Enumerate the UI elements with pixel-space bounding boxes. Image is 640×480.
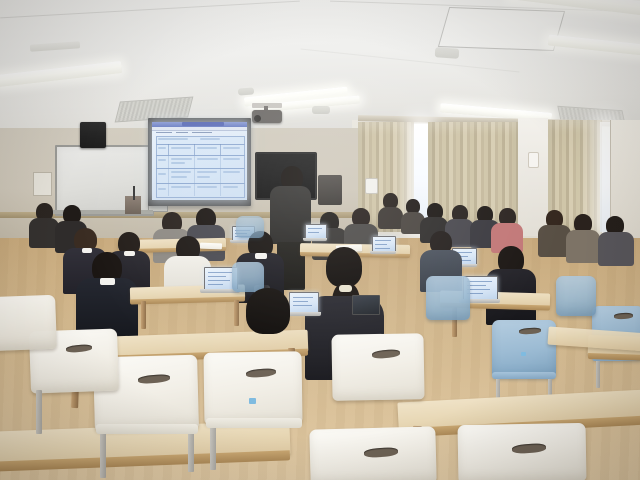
slide-cell-text bbox=[223, 158, 240, 160]
ceiling-vent-small bbox=[312, 106, 330, 114]
slide-cell-text bbox=[171, 162, 185, 164]
shirt-collar bbox=[100, 278, 115, 285]
ceiling-access-panel bbox=[438, 7, 565, 51]
wall-clock bbox=[365, 178, 378, 194]
chair-blue-far4[interactable] bbox=[236, 216, 264, 238]
slide-cell-text bbox=[158, 159, 166, 161]
av-equipment-rack bbox=[318, 175, 342, 205]
laptop-base[interactable] bbox=[285, 312, 321, 316]
table-leg bbox=[141, 301, 146, 329]
slide-cell-text bbox=[171, 158, 192, 160]
slide-cell-text bbox=[171, 147, 191, 149]
shirt-collar bbox=[255, 253, 267, 259]
laptop-screen[interactable] bbox=[289, 292, 319, 314]
slide-cell-text bbox=[223, 147, 240, 149]
slide-cell-text bbox=[197, 171, 217, 173]
projector-lens bbox=[254, 115, 261, 122]
person-head bbox=[246, 288, 290, 334]
chair-blue-far[interactable] bbox=[426, 276, 470, 320]
laptop-screen-dark[interactable] bbox=[352, 295, 380, 315]
slide-header-tab bbox=[182, 122, 224, 126]
slide-cell-text bbox=[197, 176, 210, 178]
laptop-base[interactable] bbox=[370, 251, 396, 254]
chair-leg bbox=[210, 422, 216, 470]
classroom-photo bbox=[0, 0, 640, 480]
chair-leg bbox=[100, 428, 106, 478]
handout-paper bbox=[200, 243, 222, 250]
slide-cell-text bbox=[158, 147, 166, 149]
person-head-ponytail bbox=[326, 247, 362, 287]
slide-text-line bbox=[176, 132, 188, 133]
wall-pillar bbox=[518, 118, 548, 236]
slide-cell-text bbox=[197, 147, 217, 149]
slide-cell-text bbox=[158, 173, 166, 175]
slide-cell-text bbox=[223, 171, 240, 173]
chair-sticker bbox=[249, 398, 256, 404]
slide-menu-bar bbox=[152, 127, 247, 131]
microphone-stand bbox=[133, 186, 135, 200]
person-body bbox=[378, 207, 403, 229]
shirt-collar bbox=[124, 251, 135, 256]
chair-leg bbox=[36, 390, 42, 434]
chair-front-center[interactable] bbox=[204, 351, 303, 424]
slide-cell-text bbox=[158, 138, 188, 140]
slide-cell-text bbox=[171, 171, 191, 173]
pillar-wall-fixture bbox=[528, 152, 539, 168]
wall-notice-sheet bbox=[33, 172, 52, 196]
slide-cell-text bbox=[200, 138, 220, 140]
chair-seat bbox=[492, 372, 556, 379]
chair-seat bbox=[206, 418, 302, 428]
slide-text-line bbox=[192, 132, 212, 133]
table-leg bbox=[234, 300, 239, 326]
ceiling-vent-right bbox=[435, 47, 460, 59]
slide-cell-text bbox=[223, 186, 238, 188]
laptop-base[interactable] bbox=[303, 238, 327, 241]
slide-cell-text bbox=[197, 158, 218, 160]
chair-leg bbox=[188, 428, 194, 472]
shirt-collar bbox=[82, 248, 92, 253]
projection-screen bbox=[152, 122, 247, 200]
chair-seat bbox=[96, 424, 198, 434]
chair-sticker bbox=[521, 352, 526, 356]
slide-text-line bbox=[156, 132, 172, 133]
ceiling-vent-center bbox=[238, 87, 254, 95]
slide-cell-text bbox=[197, 186, 217, 188]
chair-mid-right-front[interactable] bbox=[331, 333, 424, 401]
slide-cell-text bbox=[171, 176, 187, 178]
slide-cell-text bbox=[171, 186, 191, 188]
wall-speaker bbox=[80, 122, 106, 148]
chair-blue-far3[interactable] bbox=[232, 262, 264, 292]
hair-clip bbox=[339, 285, 352, 292]
chair-edge-left[interactable] bbox=[0, 295, 57, 351]
slide-cell-text bbox=[158, 188, 166, 190]
chair-leg bbox=[596, 358, 600, 388]
